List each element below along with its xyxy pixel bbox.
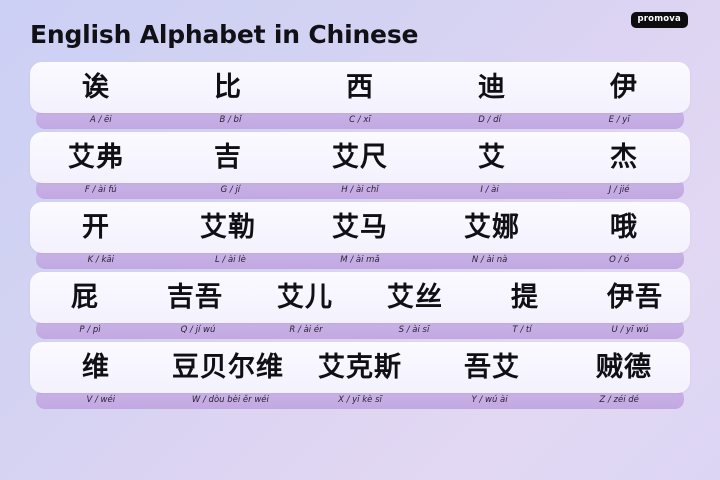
infographic-page: English Alphabet in Chinese promova 诶比西迪… <box>0 0 720 480</box>
letter-pinyin-label: X / yī kè sī <box>295 396 425 405</box>
chinese-character-cell: 西 <box>294 74 426 101</box>
chinese-character-cell: 艾马 <box>294 214 426 241</box>
letter-pinyin-label: O / ó <box>554 256 684 265</box>
letter-pinyin-label: L / ài lè <box>166 256 296 265</box>
letter-pinyin-label: P / pì <box>36 326 144 335</box>
chinese-character-cell: 杰 <box>558 144 690 171</box>
alphabet-row: 开艾勒艾马艾娜哦K / kāiL / ài lèM / ài mǎN / ài … <box>30 202 690 269</box>
letter-pinyin-label: Q / jí wú <box>144 326 252 335</box>
alphabet-row: 诶比西迪伊A / ēiB / bǐC / xīD / díE / yī <box>30 62 690 129</box>
header: English Alphabet in Chinese promova <box>30 0 690 62</box>
chinese-character-cell: 伊 <box>558 74 690 101</box>
chinese-character-cell: 哦 <box>558 214 690 241</box>
letter-pinyin-label: G / jí <box>166 186 296 195</box>
chinese-character-cell: 艾弗 <box>30 144 162 171</box>
letter-pinyin-label: C / xī <box>295 116 425 125</box>
chinese-character-cell: 诶 <box>30 74 162 101</box>
letter-pinyin-label: R / ài ér <box>252 326 360 335</box>
letter-pinyin-label: T / tí <box>468 326 576 335</box>
letter-pinyin-label: N / ài nà <box>425 256 555 265</box>
letter-pinyin-label: W / dòu bèi ěr wéi <box>166 396 296 405</box>
letter-pinyin-label: Y / wú ài <box>425 396 555 405</box>
letter-pinyin-label: U / yī wú <box>576 326 684 335</box>
chinese-character-cell: 提 <box>470 284 580 311</box>
letter-pinyin-label: H / ài chǐ <box>295 186 425 195</box>
letter-pinyin-label: K / kāi <box>36 256 166 265</box>
chinese-character-cell: 艾尺 <box>294 144 426 171</box>
chinese-character-cell: 艾勒 <box>162 214 294 241</box>
letter-pinyin-label: S / ài sī <box>360 326 468 335</box>
chinese-character-cell: 开 <box>30 214 162 241</box>
page-title: English Alphabet in Chinese <box>30 20 418 49</box>
chinese-character-cell: 维 <box>30 354 162 381</box>
letter-pinyin-label: V / wéi <box>36 396 166 405</box>
character-card: 诶比西迪伊 <box>30 62 690 113</box>
chinese-character-cell: 伊吾 <box>580 284 690 311</box>
character-card: 维豆贝尔维艾克斯吾艾贼德 <box>30 342 690 393</box>
logo-text: promova <box>638 15 682 24</box>
character-card: 屁吉吾艾儿艾丝提伊吾 <box>30 272 690 323</box>
alphabet-row: 维豆贝尔维艾克斯吾艾贼德V / wéiW / dòu bèi ěr wéiX /… <box>30 342 690 409</box>
letter-pinyin-label: A / ēi <box>36 116 166 125</box>
letter-pinyin-label: M / ài mǎ <box>295 256 425 265</box>
alphabet-table: 诶比西迪伊A / ēiB / bǐC / xīD / díE / yī艾弗吉艾尺… <box>30 62 690 409</box>
chinese-character-cell: 吉 <box>162 144 294 171</box>
chinese-character-cell: 比 <box>162 74 294 101</box>
letter-pinyin-label: E / yī <box>554 116 684 125</box>
chinese-character-cell: 吉吾 <box>140 284 250 311</box>
chinese-character-cell: 艾 <box>426 144 558 171</box>
chinese-character-cell: 迪 <box>426 74 558 101</box>
chinese-character-cell: 艾儿 <box>250 284 360 311</box>
character-card: 开艾勒艾马艾娜哦 <box>30 202 690 253</box>
chinese-character-cell: 豆贝尔维 <box>162 354 294 381</box>
chinese-character-cell: 贼德 <box>558 354 690 381</box>
letter-pinyin-label: I / ài <box>425 186 555 195</box>
alphabet-row: 屁吉吾艾儿艾丝提伊吾P / pìQ / jí wúR / ài érS / ài… <box>30 272 690 339</box>
chinese-character-cell: 艾克斯 <box>294 354 426 381</box>
letter-pinyin-label: D / dí <box>425 116 555 125</box>
chinese-character-cell: 艾丝 <box>360 284 470 311</box>
chinese-character-cell: 吾艾 <box>426 354 558 381</box>
character-card: 艾弗吉艾尺艾杰 <box>30 132 690 183</box>
letter-pinyin-label: B / bǐ <box>166 116 296 125</box>
letter-pinyin-label: J / jié <box>554 186 684 195</box>
chinese-character-cell: 屁 <box>30 284 140 311</box>
letter-pinyin-label: F / ài fú <box>36 186 166 195</box>
alphabet-row: 艾弗吉艾尺艾杰F / ài fúG / jíH / ài chǐI / àiJ … <box>30 132 690 199</box>
promova-logo-badge: promova <box>631 12 689 28</box>
chinese-character-cell: 艾娜 <box>426 214 558 241</box>
letter-pinyin-label: Z / zéi dé <box>554 396 684 405</box>
